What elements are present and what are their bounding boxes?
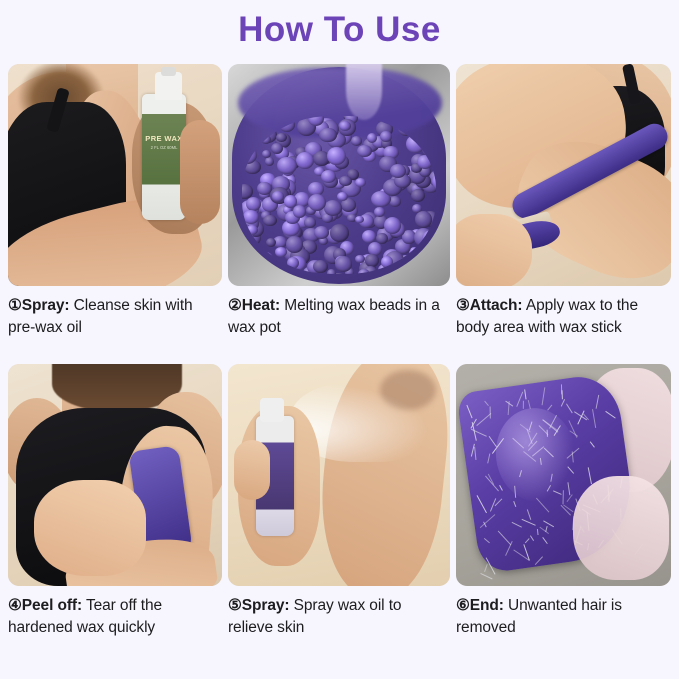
hair-strand — [589, 442, 594, 448]
step-lead-3: ③Attach: — [456, 297, 522, 314]
wax-bead — [319, 128, 336, 143]
step-item-5: ⑤Spray: Spray wax oil to relieve skin — [228, 364, 450, 664]
hair-strand — [605, 411, 616, 419]
hair-strand — [566, 403, 573, 413]
wax-bead — [263, 215, 277, 226]
wax-bead — [284, 195, 297, 207]
step-lead-2: ②Heat: — [228, 297, 280, 314]
wax-bead — [339, 121, 351, 131]
step-item-1: PRE WAX 2 FL OZ 60ML ①Spray: Cleanse ski… — [8, 64, 222, 364]
wax-bead — [337, 192, 348, 201]
wax-bead — [314, 226, 330, 239]
wax-bead — [402, 255, 416, 268]
wax-bead — [243, 210, 259, 223]
wax-bead — [293, 205, 307, 218]
wax-bead-field — [242, 116, 436, 274]
bottle-cap — [155, 72, 182, 100]
wax-bead — [304, 217, 317, 228]
step-caption-6: ⑥End: Unwanted hair is removed — [456, 595, 671, 664]
hair-strand — [484, 538, 490, 543]
wax-bead — [286, 236, 304, 252]
step-item-4: ④Peel off: Tear off the hardened wax qui… — [8, 364, 222, 664]
hair-strand — [561, 399, 565, 406]
hair-strand — [495, 499, 503, 507]
hair-strand — [514, 501, 517, 507]
hair-strand — [511, 522, 521, 528]
step-image-1: PRE WAX 2 FL OZ 60ML — [8, 64, 222, 286]
thumb-shape — [234, 440, 270, 500]
wax-bead — [277, 157, 297, 174]
wax-bead — [411, 189, 425, 202]
step-lead-4: ④Peel off: — [8, 597, 82, 614]
hair-strand — [595, 395, 599, 409]
wax-bead — [265, 157, 274, 166]
step-lead-6: ⑥End: — [456, 597, 504, 614]
wax-bead — [276, 133, 287, 142]
bottle-volume-text: 2 FL OZ 60ML — [144, 143, 184, 152]
step-image-3 — [456, 64, 671, 286]
hair-strand — [525, 538, 530, 543]
hair-strand — [563, 490, 564, 504]
hair-strand — [527, 509, 532, 520]
wax-drip — [346, 64, 382, 120]
wax-bead — [380, 131, 392, 142]
hair-strand — [522, 519, 536, 526]
how-to-use-infographic: How To Use PRE — [0, 0, 679, 679]
wax-bead — [327, 147, 346, 166]
fingers-shape — [180, 120, 220, 224]
wax-bead — [313, 260, 328, 273]
spray-nozzle-icon — [161, 67, 176, 76]
step-image-6 — [456, 364, 671, 586]
step-item-3: ③Attach: Apply wax to the body area with… — [456, 64, 671, 364]
wax-bead — [330, 224, 350, 242]
hair-strand — [507, 401, 509, 415]
step-lead-1: ①Spray: — [8, 297, 69, 314]
hair-strand — [522, 401, 523, 409]
wax-bead — [272, 191, 284, 201]
wax-bead — [321, 170, 336, 184]
step-image-5 — [228, 364, 450, 586]
fist-shape — [34, 480, 146, 576]
hair-strand — [487, 454, 490, 464]
hair-strand — [497, 531, 511, 546]
wax-bead — [422, 230, 436, 247]
wax-bead — [266, 238, 276, 247]
wax-bead — [417, 155, 433, 169]
wax-bead — [275, 247, 287, 257]
wax-bead — [415, 211, 432, 227]
page-title: How To Use — [0, 6, 679, 54]
wax-bead — [308, 194, 326, 211]
step-image-2 — [228, 64, 450, 286]
hair-strand — [562, 390, 563, 399]
wax-bead — [374, 207, 384, 217]
hair-strand — [535, 557, 543, 566]
wax-bead — [355, 178, 365, 187]
hair-strand — [524, 389, 526, 399]
bottle-label: PRE WAX 2 FL OZ 60ML — [144, 134, 184, 152]
wax-bead — [398, 120, 414, 136]
step-caption-1: ①Spray: Cleanse skin with pre-wax oil — [8, 295, 222, 364]
step-item-6: ⑥End: Unwanted hair is removed — [456, 364, 671, 664]
step-lead-5: ⑤Spray: — [228, 597, 289, 614]
wax-bead — [351, 136, 362, 146]
hair-strand — [541, 387, 545, 405]
steps-grid: PRE WAX 2 FL OZ 60ML ①Spray: Cleanse ski… — [8, 64, 671, 664]
wax-bead — [287, 257, 300, 270]
bottle-label-text: PRE WAX — [145, 134, 182, 143]
step-caption-5: ⑤Spray: Spray wax oil to relieve skin — [228, 595, 450, 664]
wax-bead — [271, 143, 283, 154]
bottle-cap — [260, 398, 284, 422]
hair-strand — [592, 409, 596, 428]
hair-strand — [542, 537, 547, 544]
wax-bead — [327, 269, 336, 274]
hair-strand — [476, 413, 491, 426]
wax-bead — [296, 152, 314, 169]
wax-bead — [362, 230, 376, 243]
hair-strand — [588, 467, 592, 484]
hair-strand — [530, 535, 534, 541]
wax-bead — [335, 256, 352, 271]
wax-bead — [324, 200, 342, 216]
hair-strand — [466, 405, 472, 418]
wax-bead — [245, 265, 260, 274]
step-item-2: ②Heat: Melting wax beads in a wax pot — [228, 64, 450, 364]
wax-bead — [381, 256, 393, 268]
wax-bead — [358, 269, 370, 274]
hair-strand — [476, 495, 486, 513]
hair-strand — [484, 401, 489, 406]
hair-strand — [566, 495, 572, 503]
hair-strand — [540, 526, 550, 534]
hair-strand — [547, 404, 552, 410]
step-caption-2: ②Heat: Melting wax beads in a wax pot — [228, 295, 450, 364]
wax-bead — [246, 225, 258, 235]
step-image-4 — [8, 364, 222, 586]
hair-strand — [499, 485, 503, 491]
step-caption-4: ④Peel off: Tear off the hardened wax qui… — [8, 595, 222, 664]
hair-strand — [474, 447, 476, 460]
step-caption-3: ③Attach: Apply wax to the body area with… — [456, 295, 671, 364]
wax-bead — [367, 133, 377, 143]
hair-strand — [537, 529, 539, 536]
wax-bead — [419, 250, 431, 260]
hand-shape — [456, 214, 532, 286]
hair-strand — [543, 521, 554, 528]
gloved-hand-bottom — [573, 476, 669, 580]
